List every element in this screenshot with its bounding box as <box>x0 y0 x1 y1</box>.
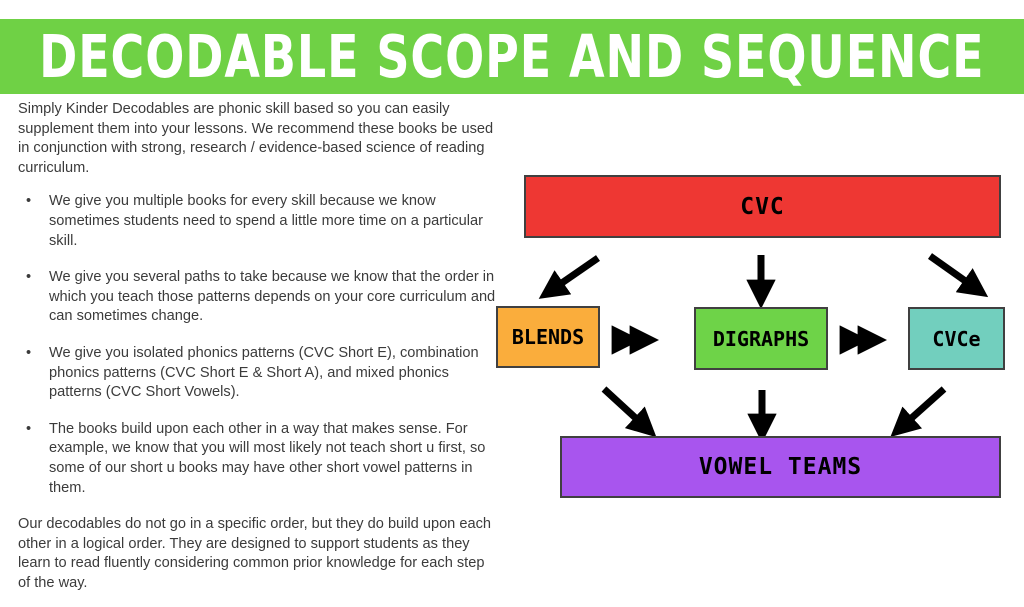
diagram-node-digraphs-label: DIGRAPHS <box>713 327 809 351</box>
connector-cvc-to-cvce <box>930 256 971 285</box>
list-item-label: We give you several paths to take becaus… <box>49 269 495 324</box>
bullet-marker-icon: • <box>26 420 31 440</box>
list-item-label: The books build upon each other in a way… <box>49 421 485 496</box>
diagram-node-blends[interactable]: BLENDS <box>496 306 600 368</box>
title-banner: DECODABLE SCOPE AND SEQUENCE <box>0 19 1024 94</box>
list-item-label: We give you isolated phonics patterns (C… <box>49 345 479 400</box>
diagram-node-cvc[interactable]: CVC <box>524 175 1001 238</box>
bullet-marker-icon: • <box>26 268 31 288</box>
connector-blends-to-vowel-teams <box>604 389 641 423</box>
list-item: • We give you several paths to take beca… <box>18 268 496 327</box>
slide-canvas: DECODABLE SCOPE AND SEQUENCE Simply Kind… <box>0 0 1024 576</box>
diagram-node-cvce-label: CVCe <box>932 327 980 351</box>
benefits-bullet-list: • We give you multiple books for every s… <box>18 192 496 498</box>
diagram-node-vowel-teams-label: VOWEL TEAMS <box>699 454 862 480</box>
diagram-node-cvc-label: CVC <box>740 194 785 220</box>
closing-paragraph: Our decodables do not go in a specific o… <box>18 515 496 593</box>
page-title: DECODABLE SCOPE AND SEQUENCE <box>39 27 984 86</box>
connector-cvce-to-vowel-teams <box>906 389 944 423</box>
bullet-marker-icon: • <box>26 344 31 364</box>
diagram-node-vowel-teams[interactable]: VOWEL TEAMS <box>560 436 1001 498</box>
bullet-marker-icon: • <box>26 192 31 212</box>
connector-cvc-to-blends <box>556 258 598 287</box>
list-item: • We give you isolated phonics patterns … <box>18 344 496 403</box>
diagram-node-cvce[interactable]: CVCe <box>908 307 1005 370</box>
list-item: • The books build upon each other in a w… <box>18 420 496 498</box>
diagram-node-digraphs[interactable]: DIGRAPHS <box>694 307 828 370</box>
list-item: • We give you multiple books for every s… <box>18 192 496 251</box>
diagram-node-blends-label: BLENDS <box>512 325 584 349</box>
list-item-label: We give you multiple books for every ski… <box>49 193 483 248</box>
left-text-column: Simply Kinder Decodables are phonic skil… <box>18 100 496 607</box>
intro-paragraph: Simply Kinder Decodables are phonic skil… <box>18 100 496 178</box>
